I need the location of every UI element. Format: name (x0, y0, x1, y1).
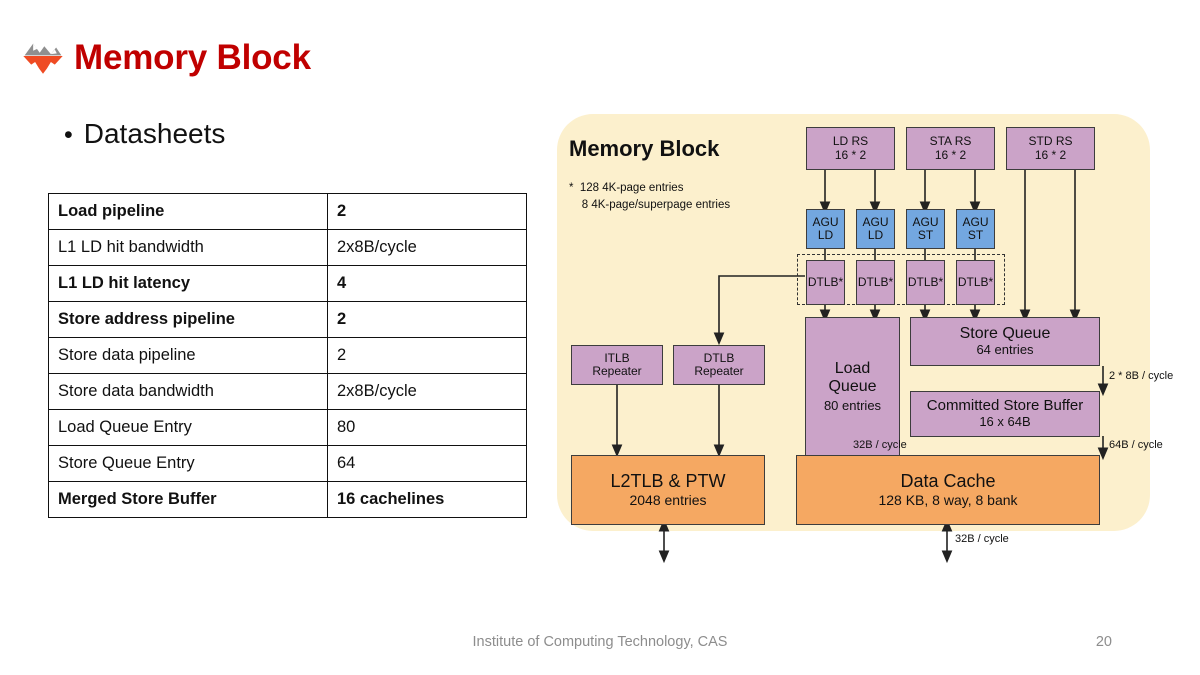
slide-title-row: Memory Block (22, 38, 311, 78)
std-rs-title: STD RS (1028, 135, 1072, 148)
committed-store-buffer-sub: 16 x 64B (979, 415, 1030, 430)
footer-institute: Institute of Computing Technology, CAS (0, 634, 1200, 650)
table-cell-value: 2x8B/cycle (328, 230, 527, 266)
edge-label-dcache-to-lq: 32B / cycle (853, 439, 907, 451)
bullet-marker: • (64, 123, 73, 148)
table-cell-value: 4 (328, 266, 527, 302)
page-title: Memory Block (74, 38, 311, 78)
table-cell-value: 80 (328, 410, 527, 446)
table-cell-key: Store data pipeline (49, 338, 328, 374)
datasheet-table-body: Load pipeline2L1 LD hit bandwidth2x8B/cy… (49, 194, 527, 518)
committed-store-buffer-box: Committed Store Buffer 16 x 64B (910, 391, 1100, 437)
load-queue-box: Load Queue 80 entries (805, 317, 900, 456)
dtlb-2-label: DTLB* (858, 276, 893, 289)
itlb-repeater-box: ITLB Repeater (571, 345, 663, 385)
slide: Memory Block • Datasheets Load pipeline2… (0, 0, 1200, 675)
agu-st-box-1: AGU ST (906, 209, 945, 249)
dtlb-box-2: DTLB* (856, 260, 895, 305)
table-cell-key: Store address pipeline (49, 302, 328, 338)
table-cell-key: L1 LD hit bandwidth (49, 230, 328, 266)
table-row: L1 LD hit bandwidth2x8B/cycle (49, 230, 527, 266)
table-cell-key: Store data bandwidth (49, 374, 328, 410)
bullet-label: Datasheets (84, 118, 226, 150)
table-cell-key: Load Queue Entry (49, 410, 328, 446)
edge-label-csb-to-dcache: 64B / cycle (1109, 439, 1163, 451)
itlb-repeater-line2: Repeater (592, 365, 641, 378)
table-cell-value: 16 cachelines (328, 482, 527, 518)
table-row: Merged Store Buffer16 cachelines (49, 482, 527, 518)
agu-st-2-line1: AGU (962, 216, 988, 229)
table-row: Store data bandwidth2x8B/cycle (49, 374, 527, 410)
data-cache-config: 128 KB, 8 way, 8 bank (878, 493, 1017, 509)
committed-store-buffer-title: Committed Store Buffer (927, 398, 1083, 415)
data-cache-box: Data Cache 128 KB, 8 way, 8 bank (796, 455, 1100, 525)
datasheet-table: Load pipeline2L1 LD hit bandwidth2x8B/cy… (48, 193, 527, 518)
dtlb-repeater-box: DTLB Repeater (673, 345, 765, 385)
dtlb-box-1: DTLB* (806, 260, 845, 305)
load-queue-line2: Queue (828, 378, 876, 396)
agu-ld-2-line1: AGU (862, 216, 888, 229)
dtlb-box-4: DTLB* (956, 260, 995, 305)
table-row: Store data pipeline2 (49, 338, 527, 374)
agu-ld-1-line2: LD (818, 229, 833, 242)
l2tlb-entries: 2048 entries (629, 493, 706, 509)
table-cell-key: Merged Store Buffer (49, 482, 328, 518)
load-queue-line1: Load (835, 360, 871, 378)
agu-ld-2-line2: LD (868, 229, 883, 242)
data-cache-title: Data Cache (900, 471, 995, 491)
table-cell-key: Load pipeline (49, 194, 328, 230)
table-cell-value: 2x8B/cycle (328, 374, 527, 410)
sta-rs-box: STA RS 16 * 2 (906, 127, 995, 170)
edge-label-dcache-down: 32B / cycle (955, 533, 1009, 545)
diagram-title: Memory Block (569, 136, 719, 162)
sta-rs-sub: 16 * 2 (935, 149, 966, 162)
edge-label-sq-to-csb: 2 * 8B / cycle (1109, 370, 1173, 382)
bullet-row: • Datasheets (64, 118, 225, 150)
table-row: Load pipeline2 (49, 194, 527, 230)
dtlb-repeater-line1: DTLB (704, 352, 735, 365)
l2tlb-title: L2TLB & PTW (610, 471, 725, 491)
l2tlb-ptw-box: L2TLB & PTW 2048 entries (571, 455, 765, 525)
agu-ld-1-line1: AGU (812, 216, 838, 229)
store-queue-box: Store Queue 64 entries (910, 317, 1100, 366)
table-row: L1 LD hit latency4 (49, 266, 527, 302)
sta-rs-title: STA RS (930, 135, 972, 148)
ld-rs-box: LD RS 16 * 2 (806, 127, 895, 170)
table-cell-value: 2 (328, 302, 527, 338)
ld-rs-title: LD RS (833, 135, 868, 148)
table-cell-key: L1 LD hit latency (49, 266, 328, 302)
agu-st-1-line1: AGU (912, 216, 938, 229)
dtlb-4-label: DTLB* (958, 276, 993, 289)
dtlb-box-3: DTLB* (906, 260, 945, 305)
std-rs-box: STD RS 16 * 2 (1006, 127, 1095, 170)
dtlb-repeater-line2: Repeater (694, 365, 743, 378)
table-row: Store Queue Entry64 (49, 446, 527, 482)
agu-ld-box-2: AGU LD (856, 209, 895, 249)
std-rs-sub: 16 * 2 (1035, 149, 1066, 162)
memory-block-diagram: Memory Block * 128 4K-page entries 8 4K-… (557, 114, 1150, 574)
agu-ld-box-1: AGU LD (806, 209, 845, 249)
table-cell-value: 2 (328, 194, 527, 230)
table-cell-value: 2 (328, 338, 527, 374)
page-number: 20 (1096, 634, 1112, 650)
mountain-logo-icon (22, 38, 64, 78)
itlb-repeater-line1: ITLB (604, 352, 629, 365)
table-cell-value: 64 (328, 446, 527, 482)
store-queue-title: Store Queue (960, 325, 1051, 343)
dtlb-1-label: DTLB* (808, 276, 843, 289)
agu-st-box-2: AGU ST (956, 209, 995, 249)
table-row: Load Queue Entry80 (49, 410, 527, 446)
table-row: Store address pipeline2 (49, 302, 527, 338)
diagram-footnote: * 128 4K-page entries 8 4K-page/superpag… (569, 180, 730, 213)
load-queue-entries: 80 entries (824, 399, 881, 414)
dtlb-3-label: DTLB* (908, 276, 943, 289)
agu-st-2-line2: ST (968, 229, 983, 242)
agu-st-1-line2: ST (918, 229, 933, 242)
ld-rs-sub: 16 * 2 (835, 149, 866, 162)
store-queue-entries: 64 entries (976, 343, 1033, 358)
table-cell-key: Store Queue Entry (49, 446, 328, 482)
